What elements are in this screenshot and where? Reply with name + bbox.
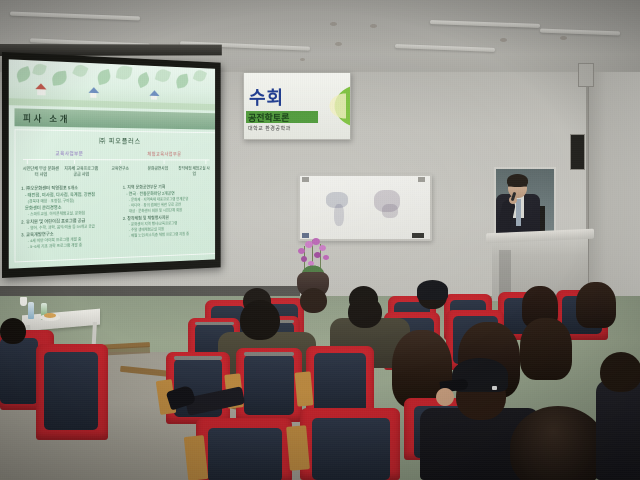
slide-header-illustration (9, 59, 215, 110)
ceiling-light-tube (10, 12, 140, 21)
wall-speaker (570, 134, 585, 170)
leaf-icon (116, 64, 133, 81)
seat-cushion (208, 428, 282, 480)
org-box: 지자체 교육프로그램 공급 사업 (62, 165, 100, 179)
paper-cup (20, 297, 27, 306)
ceiling-fixture (335, 42, 342, 46)
long-hair (576, 282, 616, 328)
head (348, 296, 382, 328)
banner-band-text: 공전학토론 (248, 111, 289, 124)
org-chart-headings: 교육사업부문 체험교육사업부문 (21, 150, 211, 158)
baseball-cap (417, 280, 448, 300)
tick (120, 160, 121, 164)
banner-subtext: 대학교 환경공학과 (248, 125, 291, 132)
org-heading-left: 교육사업부문 (55, 150, 83, 157)
seat-cushion (312, 418, 390, 480)
leaf-icon (96, 69, 112, 85)
leaf-icon (51, 71, 67, 86)
slide-column-right: 1. 지역 문화공연부문 기획 - 연극 · 전통문화마당 2개공연 - 문화제… (123, 183, 211, 247)
head (0, 318, 26, 344)
ceiling-fixture (370, 24, 377, 28)
head (600, 352, 640, 392)
torso (596, 380, 640, 480)
org-chart-ticks (21, 160, 211, 164)
tick (206, 160, 207, 164)
armrest (295, 371, 314, 406)
ceiling-light-tube (395, 44, 495, 52)
lecture-hall-photo: 피사 소개 ㈜ 피오플러스 교육사업부문 체험교육사업부문 시민단체 무상 문화… (0, 0, 640, 480)
seat-cushion (244, 355, 294, 415)
seat-cushion (44, 352, 98, 430)
leaf-icon (32, 62, 47, 77)
head (510, 406, 606, 480)
orchid-bloom (319, 245, 326, 251)
leaf-icon (193, 68, 207, 84)
armrest (286, 425, 310, 471)
slide-title: 피사 소개 (23, 111, 70, 125)
orchid-bloom (314, 252, 321, 258)
head (240, 300, 280, 340)
presenter-hair (507, 174, 528, 187)
seat-rail (244, 352, 294, 356)
house-icon (151, 95, 157, 100)
projection-screen: 피사 소개 ㈜ 피오플러스 교육사업부문 체험교육사업부문 시민단체 무상 문화… (2, 52, 221, 278)
wall-vent (578, 63, 594, 87)
head (300, 288, 327, 313)
orchid-bloom (298, 248, 305, 254)
org-heading-right: 체험교육사업부문 (147, 151, 181, 158)
house-icon (90, 92, 96, 98)
water-bottle (28, 302, 34, 319)
snack (44, 313, 56, 318)
seat-cushion (314, 353, 366, 415)
org-box: 시민단체 무상 문화센터 사업 (21, 165, 60, 179)
ceiling-sensor (300, 58, 305, 61)
hand (436, 388, 454, 406)
seat-rail (195, 322, 234, 325)
cap-logo (492, 386, 497, 390)
seat-rail (174, 356, 222, 360)
ceiling-light-tube (430, 20, 540, 28)
wall-banner: 수회 공전학토론 대학교 환경공학과 (243, 72, 351, 140)
orchid-bloom (323, 255, 329, 260)
leaf-icon (175, 74, 189, 89)
leaf-icon (136, 72, 151, 88)
slide-content: ㈜ 피오플러스 교육사업부문 체험교육사업부문 시민단체 무상 문화센터 사업 … (14, 129, 215, 262)
whiteboard-marks (382, 204, 398, 218)
whiteboard-eraser (412, 233, 424, 238)
presenter-tie (516, 199, 521, 226)
slide-subtitle: ㈜ 피오플러스 (21, 135, 211, 147)
whiteboard-clip (302, 177, 309, 182)
house-icon (37, 88, 45, 95)
banner-headline: 수회 (249, 89, 284, 107)
leaf-icon (15, 66, 33, 83)
tick (74, 160, 75, 164)
ceiling-light-tube (540, 29, 620, 36)
seat-cushion (0, 338, 38, 404)
whiteboard-marks (334, 204, 344, 226)
ceiling-fixture (500, 38, 507, 42)
orchid-bloom (312, 238, 320, 245)
org-chart-boxes: 시민단체 무상 문화센터 사업 지자체 교육프로그램 공급 사업 교육연구소 문… (21, 165, 211, 179)
leaf-icon (155, 67, 171, 84)
whiteboard-clip (302, 233, 309, 238)
leaf-icon (72, 62, 88, 79)
slide-title-bar: 피사 소개 (14, 108, 215, 129)
org-box: 창작체험 체험교실 사업 (177, 165, 211, 178)
banner-green-band: 공전학토론 (246, 111, 318, 123)
presentation-slide: 피사 소개 ㈜ 피오플러스 교육사업부문 체험교육사업부문 시민단체 무상 문화… (9, 59, 215, 268)
orchid-bloom (301, 256, 307, 262)
whiteboard-clip (418, 177, 425, 182)
tick (27, 160, 28, 164)
tick (164, 160, 165, 164)
ceiling-fixture (330, 22, 337, 26)
bullet: - 매월 노인/저소득층 체험 프로그램 지원 중 (123, 231, 211, 240)
whiteboard (298, 174, 432, 241)
slide-column-left: 1. ㈜오문화센터 직영점포 5개소 - 태전점, 미사점, 다사점, 옥계점,… (21, 184, 117, 251)
org-box: 교육연구소 (102, 165, 139, 178)
org-box: 문화공연사업 (140, 165, 175, 178)
long-hair (520, 318, 572, 380)
slide-columns: 1. ㈜오문화센터 직영점포 5개소 - 태전점, 미사점, 다사점, 옥계점,… (21, 183, 211, 251)
ceiling-fixture (560, 36, 567, 40)
